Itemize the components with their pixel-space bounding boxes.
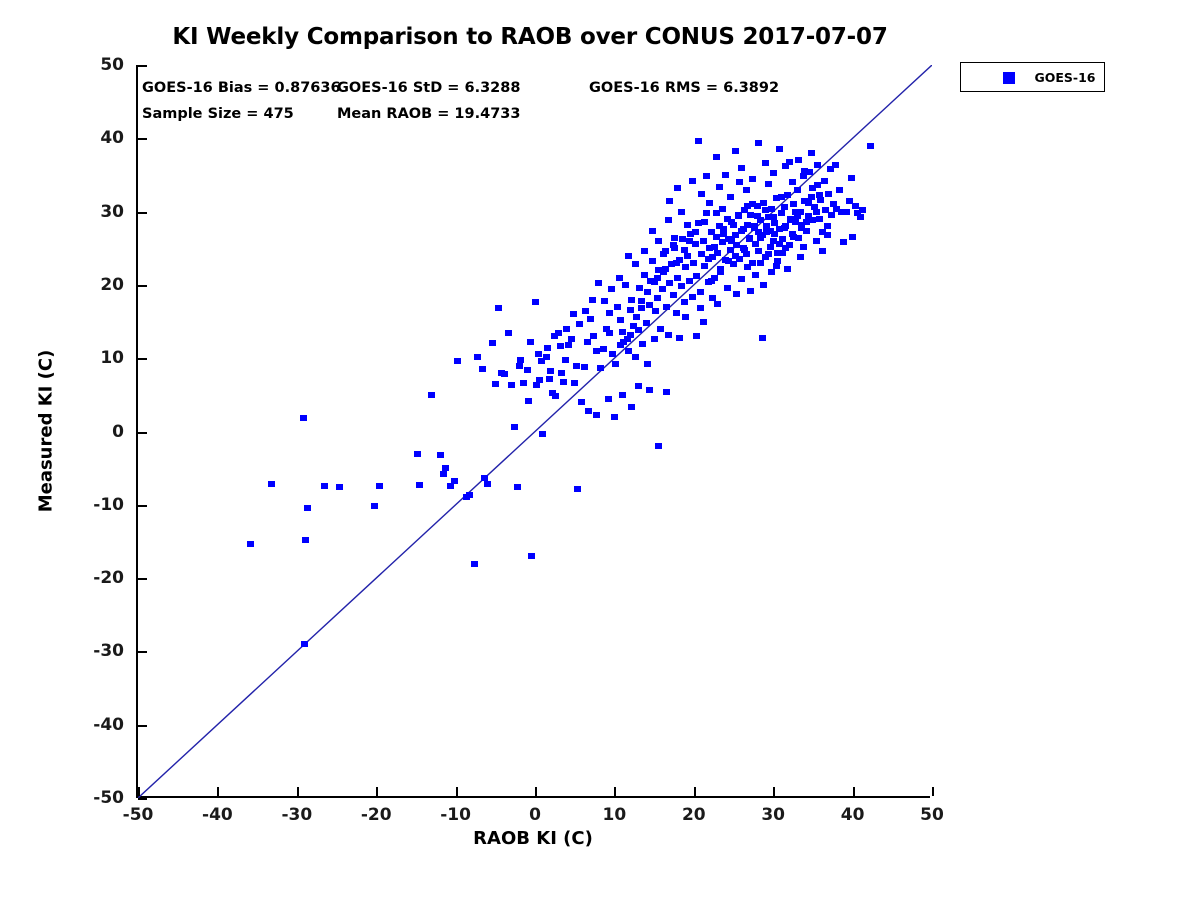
- x-tick-label: 20: [682, 805, 706, 825]
- scatter-point: [728, 238, 735, 244]
- scatter-point: [471, 561, 478, 567]
- scatter-point: [686, 278, 693, 284]
- scatter-point: [681, 247, 688, 253]
- scatter-point: [635, 383, 642, 389]
- scatter-point: [590, 333, 597, 339]
- x-tick: [694, 787, 696, 796]
- scatter-point: [733, 291, 740, 297]
- scatter-point: [738, 276, 745, 282]
- scatter-point: [790, 201, 797, 207]
- y-tick-label: 50: [100, 55, 124, 75]
- y-tick: [138, 725, 147, 727]
- scatter-point: [732, 253, 739, 259]
- scatter-point: [589, 297, 596, 303]
- scatter-point: [321, 483, 328, 489]
- scatter-point: [713, 154, 720, 160]
- scatter-point: [798, 225, 805, 231]
- scatter-point: [840, 239, 847, 245]
- scatter-point: [808, 150, 815, 156]
- y-tick: [138, 505, 147, 507]
- x-tick-label: 30: [761, 805, 785, 825]
- scatter-point: [749, 176, 756, 182]
- scatter-point: [695, 138, 702, 144]
- y-tick-label: -50: [93, 788, 124, 808]
- y-tick-label: 30: [100, 202, 124, 222]
- scatter-point: [674, 275, 681, 281]
- scatter-point: [689, 178, 696, 184]
- scatter-point: [474, 354, 481, 360]
- scatter-point: [649, 228, 656, 234]
- scatter-point: [681, 299, 688, 305]
- scatter-point: [727, 194, 734, 200]
- scatter-point: [744, 264, 751, 270]
- scatter-point: [814, 162, 821, 168]
- scatter-point: [619, 392, 626, 398]
- scatter-point: [738, 165, 745, 171]
- scatter-point: [655, 443, 662, 449]
- scatter-point: [714, 250, 721, 256]
- scatter-point: [824, 232, 831, 238]
- scatter-point: [652, 308, 659, 314]
- scatter-point: [606, 330, 613, 336]
- scatter-point: [671, 235, 678, 241]
- scatter-point: [692, 241, 699, 247]
- chart-figure: KI Weekly Comparison to RAOB over CONUS …: [0, 0, 1200, 900]
- scatter-point: [665, 332, 672, 338]
- scatter-point: [582, 308, 589, 314]
- scatter-point: [700, 238, 707, 244]
- scatter-point: [633, 314, 640, 320]
- scatter-point: [538, 358, 545, 364]
- scatter-point: [690, 260, 697, 266]
- scatter-point: [757, 235, 764, 241]
- x-tick-label: -40: [202, 805, 233, 825]
- scatter-point: [614, 304, 621, 310]
- scatter-point: [268, 481, 275, 487]
- scatter-point: [659, 286, 666, 292]
- y-axis-label: Measured KI (C): [36, 350, 57, 513]
- scatter-point: [644, 289, 651, 295]
- scatter-point: [654, 275, 661, 281]
- scatter-point: [641, 248, 648, 254]
- scatter-point: [703, 210, 710, 216]
- scatter-point: [593, 348, 600, 354]
- scatter-point: [673, 260, 680, 266]
- scatter-point: [747, 288, 754, 294]
- legend-swatch-goes16: [1003, 72, 1015, 84]
- scatter-point: [770, 170, 777, 176]
- y-tick: [138, 358, 147, 360]
- scatter-point: [819, 248, 826, 254]
- scatter-point: [628, 297, 635, 303]
- scatter-point: [765, 181, 772, 187]
- x-tick-label: 40: [841, 805, 865, 825]
- y-tick: [138, 578, 147, 580]
- x-tick: [138, 787, 140, 796]
- scatter-point: [801, 168, 808, 174]
- scatter-point: [678, 209, 685, 215]
- scatter-point: [670, 242, 677, 248]
- scatter-point: [505, 330, 512, 336]
- scatter-point: [563, 326, 570, 332]
- scatter-point: [719, 206, 726, 212]
- scatter-point: [797, 254, 804, 260]
- scatter-point: [581, 364, 588, 370]
- scatter-point: [816, 192, 823, 198]
- scatter-point: [682, 314, 689, 320]
- scatter-point: [782, 245, 789, 251]
- scatter-point: [770, 214, 777, 220]
- scatter-point: [247, 541, 254, 547]
- scatter-point: [800, 244, 807, 250]
- scatter-point: [466, 492, 473, 498]
- scatter-point: [416, 482, 423, 488]
- scatter-point: [828, 212, 835, 218]
- scatter-point: [666, 280, 673, 286]
- scatter-point: [849, 234, 856, 240]
- x-tick: [614, 787, 616, 796]
- scatter-point: [674, 185, 681, 191]
- x-tick-label: 50: [920, 805, 944, 825]
- scatter-point: [716, 184, 723, 190]
- scatter-point: [786, 159, 793, 165]
- scatter-point: [608, 286, 615, 292]
- scatter-point: [755, 229, 762, 235]
- scatter-point: [749, 201, 756, 207]
- scatter-point: [686, 238, 693, 244]
- x-tick: [297, 787, 299, 796]
- scatter-point: [532, 299, 539, 305]
- plot-canvas: [138, 65, 932, 798]
- scatter-point: [562, 357, 569, 363]
- scatter-point: [705, 256, 712, 262]
- scatter-point: [440, 471, 447, 477]
- scatter-point: [414, 451, 421, 457]
- scatter-point: [336, 484, 343, 490]
- scatter-point: [447, 483, 454, 489]
- scatter-point: [565, 342, 572, 348]
- scatter-point: [600, 346, 607, 352]
- scatter-point: [501, 371, 508, 377]
- scatter-point: [454, 358, 461, 364]
- scatter-point: [585, 408, 592, 414]
- scatter-point: [632, 261, 639, 267]
- y-tick-label: 10: [100, 348, 124, 368]
- scatter-point: [646, 387, 653, 393]
- scatter-point: [684, 222, 691, 228]
- scatter-point: [697, 289, 704, 295]
- scatter-point: [660, 251, 667, 257]
- scatter-point: [678, 283, 685, 289]
- scatter-point: [759, 335, 766, 341]
- scatter-point: [755, 140, 762, 146]
- scatter-point: [698, 191, 705, 197]
- scatter-point: [605, 396, 612, 402]
- scatter-point: [301, 641, 308, 647]
- scatter-point: [560, 379, 567, 385]
- scatter-point: [300, 415, 307, 421]
- scatter-point: [527, 339, 534, 345]
- y-tick-label: -40: [93, 715, 124, 735]
- legend: GOES-16: [960, 62, 1105, 92]
- scatter-point: [781, 204, 788, 210]
- scatter-point: [701, 219, 708, 225]
- scatter-point: [593, 412, 600, 418]
- scatter-point: [492, 381, 499, 387]
- scatter-point: [632, 354, 639, 360]
- x-tick: [456, 787, 458, 796]
- scatter-point: [741, 247, 748, 253]
- scatter-point: [730, 222, 737, 228]
- scatter-point: [495, 305, 502, 311]
- y-tick-label: -20: [93, 568, 124, 588]
- y-tick: [138, 651, 147, 653]
- scatter-point: [612, 361, 619, 367]
- scatter-point: [516, 363, 523, 369]
- y-tick-label: -30: [93, 641, 124, 661]
- x-tick-label: -50: [123, 805, 154, 825]
- y-tick: [138, 65, 147, 67]
- scatter-point: [437, 452, 444, 458]
- scatter-point: [601, 298, 608, 304]
- scatter-point: [774, 258, 781, 264]
- scatter-point: [813, 209, 820, 215]
- x-tick: [535, 787, 537, 796]
- scatter-point: [616, 275, 623, 281]
- x-tick: [932, 787, 934, 796]
- scatter-point: [304, 505, 311, 511]
- scatter-point: [597, 365, 604, 371]
- x-tick-label: -30: [281, 805, 312, 825]
- scatter-point: [528, 553, 535, 559]
- y-tick: [138, 432, 147, 434]
- y-tick: [138, 212, 147, 214]
- x-tick-label: -20: [361, 805, 392, 825]
- scatter-point: [546, 376, 553, 382]
- scatter-point: [627, 307, 634, 313]
- scatter-point: [813, 238, 820, 244]
- scatter-point: [854, 210, 861, 216]
- scatter-point: [803, 219, 810, 225]
- scatter-point: [795, 157, 802, 163]
- scatter-point: [725, 258, 732, 264]
- scatter-point: [511, 424, 518, 430]
- scatter-point: [693, 273, 700, 279]
- scatter-point: [724, 285, 731, 291]
- scatter-point: [625, 253, 632, 259]
- x-tick-label: -10: [440, 805, 471, 825]
- page-title: KI Weekly Comparison to RAOB over CONUS …: [0, 24, 1060, 50]
- scatter-point: [781, 225, 788, 231]
- scatter-point: [794, 187, 801, 193]
- scatter-point: [789, 179, 796, 185]
- scatter-point: [535, 351, 542, 357]
- scatter-point: [757, 260, 764, 266]
- scatter-point: [576, 321, 583, 327]
- scatter-point: [701, 263, 708, 269]
- scatter-point: [824, 223, 831, 229]
- scatter-point: [638, 298, 645, 304]
- scatter-point: [489, 340, 496, 346]
- scatter-point: [805, 200, 812, 206]
- scatter-point: [611, 414, 618, 420]
- scatter-point: [663, 304, 670, 310]
- scatter-point: [778, 194, 785, 200]
- scatter-point: [568, 336, 575, 342]
- scatter-point: [451, 478, 458, 484]
- scatter-point: [609, 351, 616, 357]
- scatter-point: [689, 294, 696, 300]
- scatter-point: [754, 213, 761, 219]
- scatter-point: [682, 264, 689, 270]
- scatter-point: [622, 282, 629, 288]
- plot-area: -50-40-30-20-1001020304050 -50-40-30-20-…: [136, 65, 930, 798]
- scatter-point: [706, 200, 713, 206]
- scatter-point: [736, 179, 743, 185]
- scatter-point: [809, 185, 816, 191]
- scatter-point: [665, 217, 672, 223]
- scatter-point: [816, 216, 823, 222]
- scatter-point: [836, 187, 843, 193]
- scatter-point: [776, 146, 783, 152]
- scatter-point: [662, 266, 669, 272]
- scatter-point: [821, 178, 828, 184]
- x-tick-label: 10: [603, 805, 627, 825]
- scatter-point: [790, 234, 797, 240]
- scatter-point: [692, 229, 699, 235]
- scatter-point: [784, 266, 791, 272]
- y-tick: [138, 285, 147, 287]
- scatter-point: [673, 310, 680, 316]
- scatter-point: [832, 162, 839, 168]
- scatter-point: [762, 207, 769, 213]
- scatter-point: [544, 345, 551, 351]
- scatter-point: [784, 192, 791, 198]
- scatter-point: [525, 398, 532, 404]
- scatter-point: [752, 241, 759, 247]
- scatter-point: [768, 206, 775, 212]
- x-tick: [217, 787, 219, 796]
- scatter-point: [571, 380, 578, 386]
- scatter-point: [547, 368, 554, 374]
- scatter-point: [617, 317, 624, 323]
- scatter-point: [524, 367, 531, 373]
- scatter-point: [514, 484, 521, 490]
- scatter-point: [655, 238, 662, 244]
- scatter-point: [371, 503, 378, 509]
- legend-label-goes16: GOES-16: [1031, 70, 1099, 85]
- scatter-point: [767, 228, 774, 234]
- scatter-point: [746, 236, 753, 242]
- scatter-point: [649, 258, 656, 264]
- scatter-point: [867, 143, 874, 149]
- scatter-point: [752, 272, 759, 278]
- scatter-point: [838, 209, 845, 215]
- scatter-point: [740, 226, 747, 232]
- scatter-point: [520, 380, 527, 386]
- scatter-point: [768, 269, 775, 275]
- scatter-point: [765, 251, 772, 257]
- scatter-point: [533, 382, 540, 388]
- y-tick: [138, 798, 147, 800]
- scatter-point: [627, 332, 634, 338]
- scatter-point: [595, 280, 602, 286]
- scatter-point: [767, 244, 774, 250]
- scatter-point: [570, 311, 577, 317]
- scatter-point: [552, 393, 559, 399]
- scatter-point: [508, 382, 515, 388]
- scatter-point: [708, 278, 715, 284]
- y-tick-label: 40: [100, 128, 124, 148]
- x-axis-label: RAOB KI (C): [136, 828, 930, 849]
- scatter-point: [663, 389, 670, 395]
- scatter-point: [760, 282, 767, 288]
- scatter-point: [619, 329, 626, 335]
- scatter-point: [670, 292, 677, 298]
- scatter-point: [557, 343, 564, 349]
- x-tick: [376, 787, 378, 796]
- scatter-point: [684, 253, 691, 259]
- y-tick-label: 0: [112, 422, 124, 442]
- scatter-point: [636, 285, 643, 291]
- scatter-point: [536, 377, 543, 383]
- scatter-point: [703, 173, 710, 179]
- scatter-point: [651, 336, 658, 342]
- scatter-point: [643, 320, 650, 326]
- x-tick-label: 0: [529, 805, 541, 825]
- scatter-point: [711, 244, 718, 250]
- scatter-point: [484, 481, 491, 487]
- scatter-point: [644, 361, 651, 367]
- scatter-point: [720, 231, 727, 237]
- scatter-point: [635, 327, 642, 333]
- scatter-point: [697, 305, 704, 311]
- scatter-point: [587, 316, 594, 322]
- scatter-point: [584, 339, 591, 345]
- y-tick: [138, 138, 147, 140]
- scatter-point: [722, 172, 729, 178]
- x-tick: [773, 787, 775, 796]
- scatter-point: [574, 486, 581, 492]
- scatter-point: [700, 319, 707, 325]
- scatter-point: [676, 335, 683, 341]
- y-tick-label: -10: [93, 495, 124, 515]
- scatter-point: [479, 366, 486, 372]
- scatter-point: [825, 191, 832, 197]
- scatter-point: [657, 326, 664, 332]
- x-tick: [853, 787, 855, 796]
- scatter-point: [666, 198, 673, 204]
- scatter-point: [794, 213, 801, 219]
- scatter-point: [539, 431, 546, 437]
- scatter-point: [762, 160, 769, 166]
- scatter-point: [848, 175, 855, 181]
- scatter-point: [428, 392, 435, 398]
- scatter-point: [654, 295, 661, 301]
- scatter-point: [693, 333, 700, 339]
- scatter-point: [578, 399, 585, 405]
- scatter-point: [551, 333, 558, 339]
- scatter-point: [732, 148, 739, 154]
- scatter-point: [713, 210, 720, 216]
- scatter-point: [717, 269, 724, 275]
- y-tick-label: 20: [100, 275, 124, 295]
- scatter-point: [639, 341, 646, 347]
- scatter-point: [638, 305, 645, 311]
- scatter-point: [778, 210, 785, 216]
- scatter-point: [376, 483, 383, 489]
- scatter-point: [743, 187, 750, 193]
